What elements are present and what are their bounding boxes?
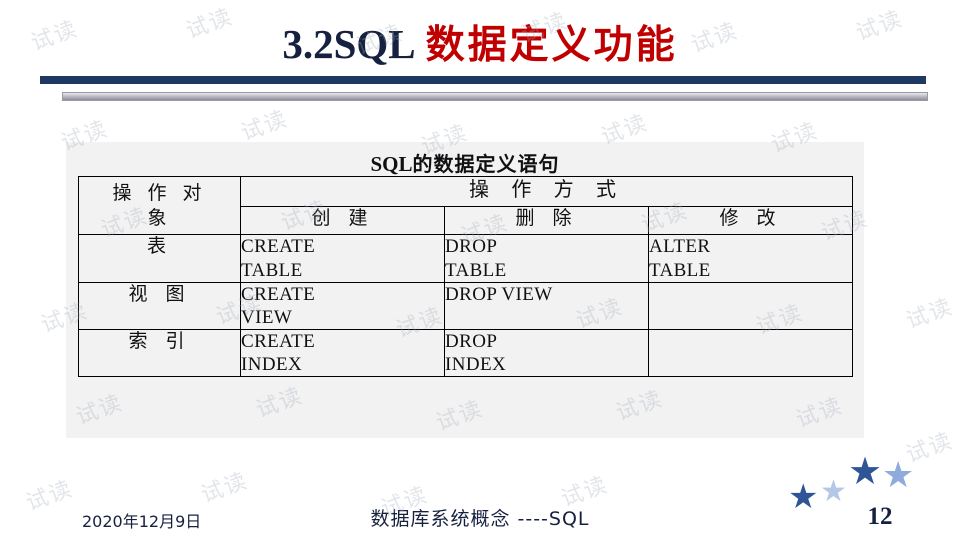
page-title: 3.2SQL数据定义功能 xyxy=(0,14,960,70)
watermark-text: 试读 xyxy=(236,101,292,147)
row-create-view: CREATE VIEW xyxy=(241,282,445,329)
table-row: 视 图 CREATE VIEW DROP VIEW xyxy=(79,282,853,329)
table-caption: SQL的数据定义语句 xyxy=(66,148,864,177)
row-alter-table: ALTER TABLE xyxy=(649,235,853,282)
header-cell-method: 操 作 方 式 xyxy=(241,177,853,207)
slide: 3.2SQL数据定义功能 SQL的数据定义语句 操 作 对 象 操 作 xyxy=(0,0,960,540)
watermark-text: 试读 xyxy=(901,289,957,335)
star-icon: ★ xyxy=(820,477,847,507)
row-object-table: 表 xyxy=(79,235,241,282)
header-cell-create: 创 建 xyxy=(241,206,445,234)
header-cell-alter: 修 改 xyxy=(649,206,853,234)
header-cell-drop: 删 除 xyxy=(445,206,649,234)
table-row: 表 CREATE TABLE DROP TABLE ALTER TABLE xyxy=(79,235,853,282)
title-accent-bar xyxy=(62,92,928,101)
row-drop-index: DROP INDEX xyxy=(445,330,649,377)
footer-course-title: 数据库系统概念 ----SQL xyxy=(0,504,960,531)
header-cell-object: 操 作 对 象 xyxy=(79,177,241,235)
watermark-text: 试读 xyxy=(196,463,252,509)
row-alter-index xyxy=(649,330,853,377)
row-drop-view: DROP VIEW xyxy=(445,282,649,329)
table-caption-en: SQL xyxy=(370,152,412,176)
ddl-table: 操 作 对 象 操 作 方 式 创 建 删 除 修 改 表 CREATE TAB… xyxy=(78,176,853,377)
page-number: 12 xyxy=(860,503,900,531)
header-object-line1: 操 作 对 xyxy=(79,181,240,206)
title-underline-bar xyxy=(40,76,926,84)
title-text-en: 3.2SQL xyxy=(282,21,415,67)
star-icon: ★ xyxy=(882,457,914,493)
title-text-cn: 数据定义功能 xyxy=(426,23,678,68)
row-object-index: 索 引 xyxy=(79,330,241,377)
row-drop-table: DROP TABLE xyxy=(445,235,649,282)
row-create-index: CREATE INDEX xyxy=(241,330,445,377)
star-icon: ★ xyxy=(848,453,882,491)
header-object-line2: 象 xyxy=(79,206,240,231)
table-row: 索 引 CREATE INDEX DROP INDEX xyxy=(79,330,853,377)
row-create-table: CREATE TABLE xyxy=(241,235,445,282)
table-header-row-1: 操 作 对 象 操 作 方 式 xyxy=(79,177,853,207)
row-alter-view xyxy=(649,282,853,329)
content-panel: SQL的数据定义语句 操 作 对 象 操 作 方 式 创 建 xyxy=(66,142,864,438)
table-caption-cn: 的数据定义语句 xyxy=(413,152,560,176)
row-object-view: 视 图 xyxy=(79,282,241,329)
